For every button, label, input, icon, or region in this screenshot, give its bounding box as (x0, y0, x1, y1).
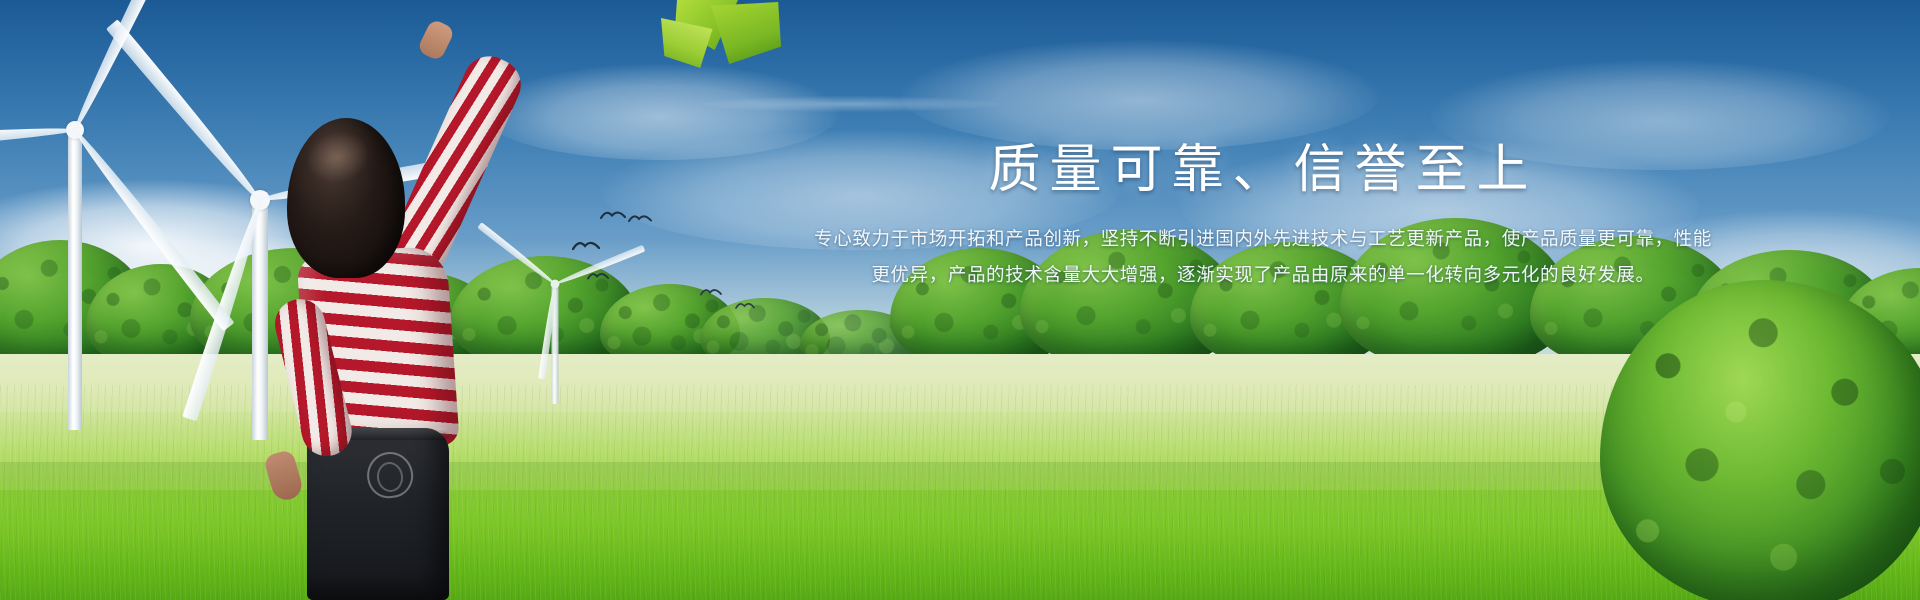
hero-banner: 质量可靠、信誉至上 专心致力于市场开拓和产品创新，坚持不断引进国内外先进技术与工… (0, 0, 1920, 600)
wind-turbine-edge (0, 130, 205, 430)
raised-hand (416, 18, 455, 62)
girl-figure (255, 0, 515, 600)
banner-headline: 质量可靠、信誉至上 (668, 140, 1858, 201)
green-pinwheel (655, 0, 795, 82)
foreground-tree (1600, 280, 1920, 600)
banner-copy: 质量可靠、信誉至上 专心致力于市场开拓和产品创新，坚持不断引进国内外先进技术与工… (668, 140, 1858, 292)
tree-canopy (1600, 280, 1920, 600)
banner-subtitle-line-2: 更优异，产品的技术含量大大增强，逐渐实现了产品由原来的单一化转向多元化的良好发展… (668, 257, 1858, 293)
banner-subtitle: 专心致力于市场开拓和产品创新，坚持不断引进国内外先进技术与工艺更新产品，使产品质… (668, 221, 1858, 292)
banner-subtitle-line-1: 专心致力于市场开拓和产品创新，坚持不断引进国内外先进技术与工艺更新产品，使产品质… (668, 221, 1858, 257)
raised-arm (383, 48, 530, 282)
lowered-hand (263, 449, 305, 503)
turbine-mast (68, 130, 82, 430)
pinwheel-blade (711, 2, 781, 64)
